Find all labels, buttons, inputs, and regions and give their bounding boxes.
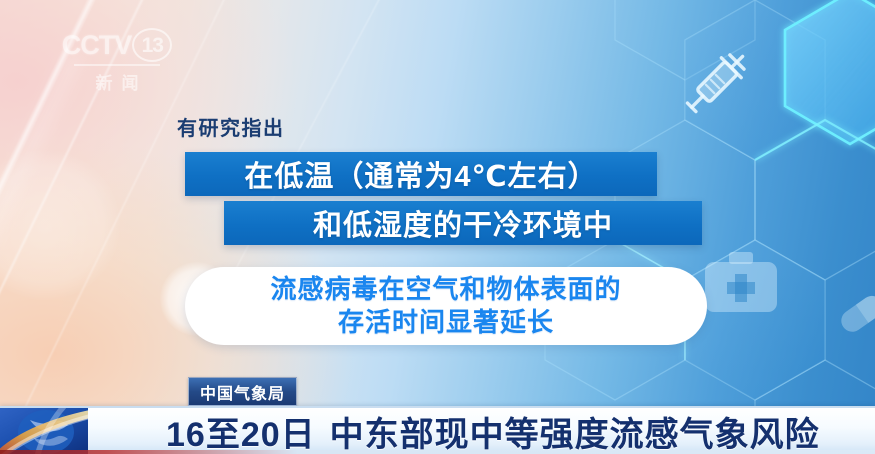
- lead-in-text: 有研究指出: [177, 112, 285, 141]
- source-tag: 中国气象局: [188, 377, 297, 406]
- conclusion-line-1: 流感病毒在空气和物体表面的: [270, 273, 621, 306]
- conclusion-pill: 流感病毒在空气和物体表面的 存活时间显著延长: [185, 267, 707, 345]
- glow-blob-left: [0, 150, 120, 300]
- light-streak-1: [0, 0, 109, 454]
- logo-cctv-text: CCTV: [62, 32, 132, 59]
- light-streak-2: [0, 0, 171, 454]
- headline-text: 16至20日中东部现中等强度流感气象风险: [166, 407, 820, 454]
- conclusion-line-2: 存活时间显著延长: [338, 306, 554, 339]
- statement-banner-2: 和低湿度的干冷环境中: [224, 201, 702, 245]
- logo-underline: [74, 64, 160, 66]
- medical-briefcase-icon: [705, 252, 777, 312]
- statement-banner-1-text: 在低温（通常为4℃左右）: [244, 153, 597, 195]
- headline-body: 中东部现中等强度流感气象风险: [330, 416, 820, 454]
- logo-number-text: 13: [142, 35, 163, 56]
- logo-number-ring: 13: [132, 28, 172, 62]
- statement-banner-1: 在低温（通常为4℃左右）: [185, 152, 657, 196]
- syringe-icon: [682, 47, 753, 118]
- globe-graphic: [0, 408, 88, 454]
- logo-wordmark: CCTV 13: [52, 28, 182, 62]
- pill-capsule-icon: [837, 292, 875, 336]
- cctv13-news-logo: CCTV 13 新闻: [52, 28, 182, 90]
- light-streak-soft: [0, 50, 88, 454]
- headline-date: 16至20日: [166, 416, 316, 454]
- source-tag-label: 中国气象局: [200, 380, 285, 404]
- statement-banner-2-text: 和低湿度的干冷环境中: [313, 202, 613, 244]
- logo-subtitle: 新闻: [52, 69, 182, 94]
- broadcast-screen: CCTV 13 新闻 有研究指出 在低温（通常为4℃左右） 和低湿度的干冷环境中…: [0, 0, 875, 454]
- headline-bar: 16至20日中东部现中等强度流感气象风险: [0, 406, 875, 454]
